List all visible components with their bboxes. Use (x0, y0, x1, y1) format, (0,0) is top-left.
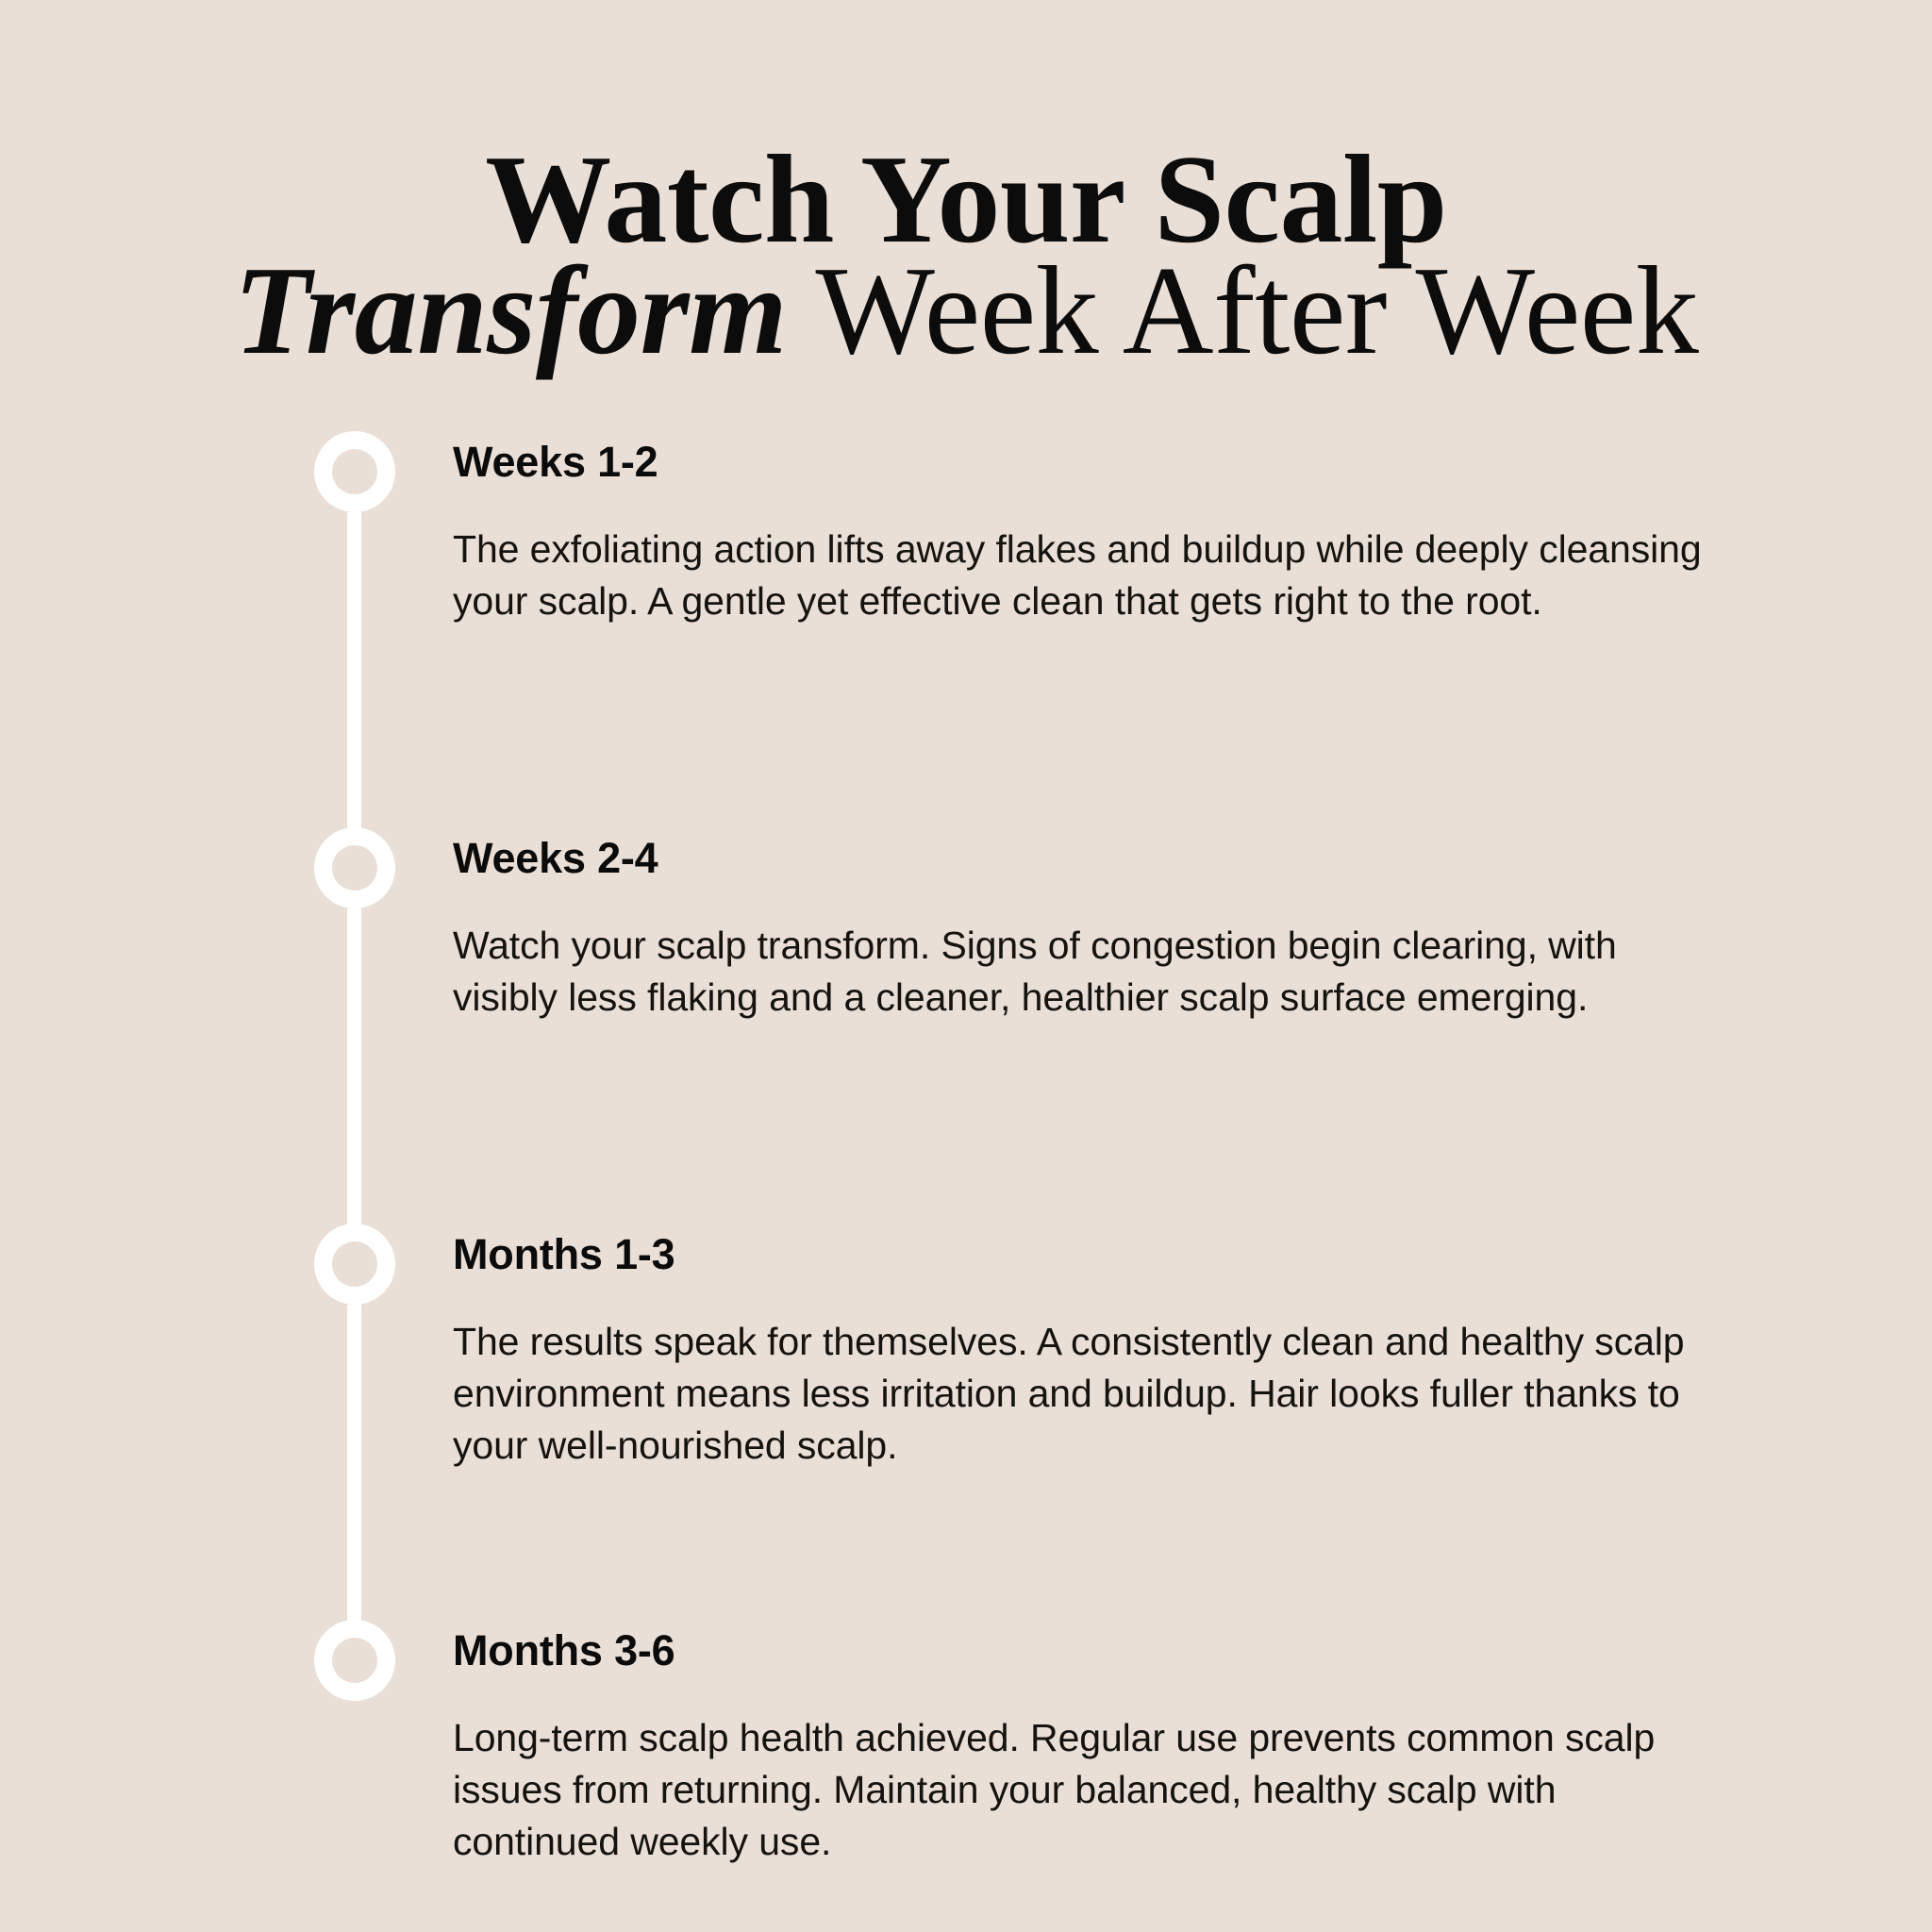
timeline-node-icon-4 (314, 1620, 395, 1701)
timeline-node-icon-2 (314, 827, 395, 908)
timeline: Weeks 1-2 The exfoliating action lifts a… (0, 0, 1932, 1932)
timeline-entry-4: Months 3-6 Long-term scalp health achiev… (453, 1628, 1792, 1868)
timeline-entry-2: Weeks 2-4 Watch your scalp transform. Si… (453, 836, 1792, 1024)
timeline-entry-1: Weeks 1-2 The exfoliating action lifts a… (453, 440, 1792, 627)
timeline-node-icon-1 (314, 431, 395, 512)
timeline-node-icon-3 (314, 1224, 395, 1305)
timeline-entry-3: Months 1-3 The results speak for themsel… (453, 1232, 1792, 1472)
timeline-connector-3 (347, 1305, 361, 1660)
timeline-entry-body-4: Long-term scalp health achieved. Regular… (453, 1712, 1707, 1868)
timeline-connector-2 (347, 908, 361, 1264)
timeline-entry-body-3: The results speak for themselves. A cons… (453, 1316, 1707, 1472)
timeline-entry-body-2: Watch your scalp transform. Signs of con… (453, 920, 1707, 1024)
timeline-entry-body-1: The exfoliating action lifts away flakes… (453, 524, 1707, 627)
timeline-entry-label-3: Months 1-3 (453, 1232, 1792, 1277)
timeline-entry-label-4: Months 3-6 (453, 1628, 1792, 1674)
timeline-connector-1 (347, 512, 361, 868)
timeline-entry-label-1: Weeks 1-2 (453, 440, 1792, 485)
timeline-entry-label-2: Weeks 2-4 (453, 836, 1792, 881)
poster-canvas: Watch Your Scalp Transform Week After We… (0, 0, 1932, 1932)
